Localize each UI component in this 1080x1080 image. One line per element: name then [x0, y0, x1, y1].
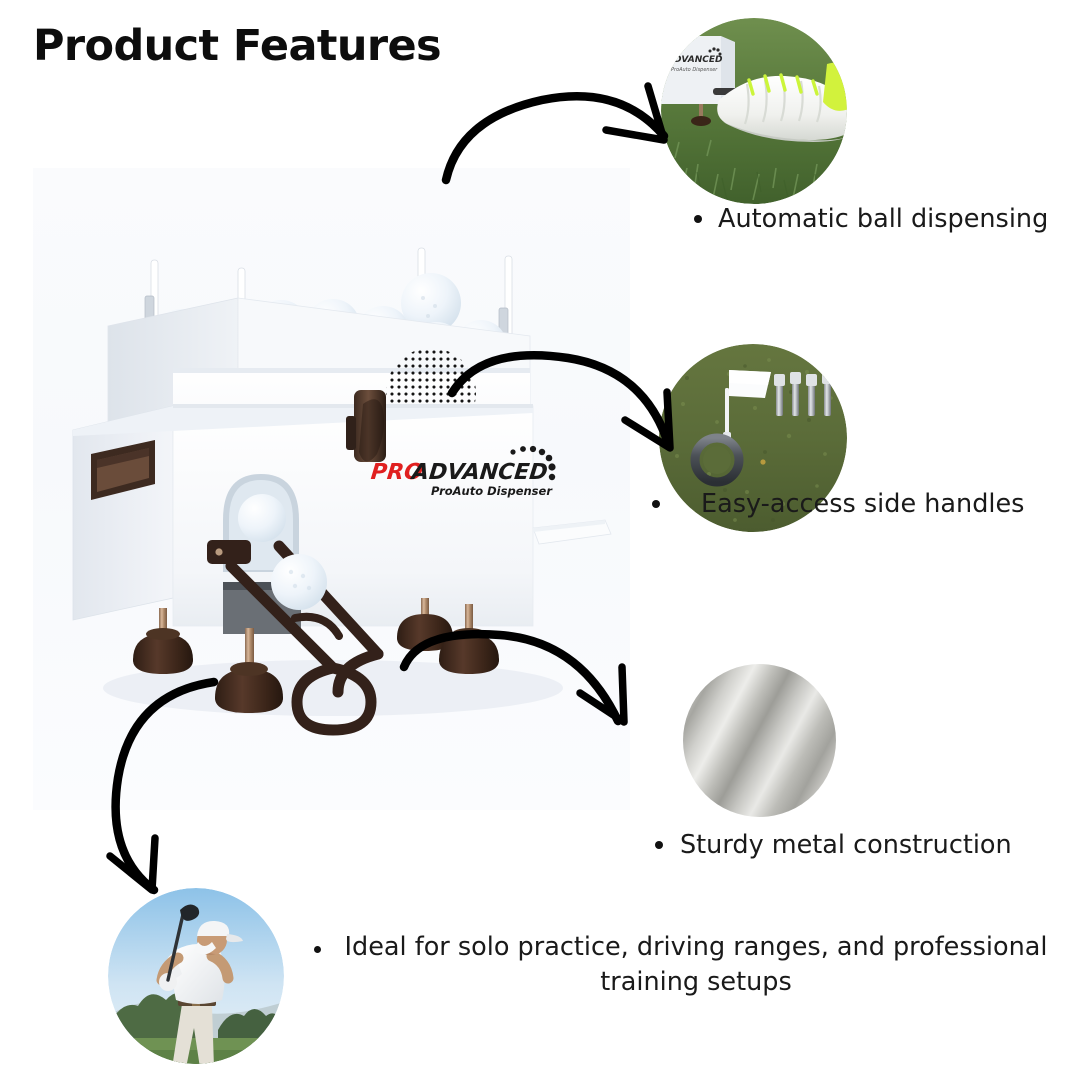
golfer-swing-photo: [108, 888, 284, 1064]
rear-tray: [533, 520, 611, 544]
bullet-dot: [694, 215, 702, 223]
feature-label-ideal-for-practice: Ideal for solo practice, driving ranges,…: [336, 930, 1056, 1000]
feature-image-ideal-for-practice: [108, 888, 284, 1064]
arrow-to-shoe: [446, 86, 664, 180]
bullet-dot: [314, 946, 321, 953]
golf-shoe-pedal-photo: ADVANCED ProAuto Dispenser: [661, 18, 847, 204]
product-photo: PRO ADVANCED ProAuto Dispenser: [33, 168, 630, 810]
feature-label-sturdy-metal-construction: Sturdy metal construction: [680, 829, 1012, 863]
bullet-dot: [655, 841, 663, 849]
feature-label-easy-access-side-handles: Easy-access side handles: [701, 488, 1024, 522]
svg-text:ProAuto Dispenser: ProAuto Dispenser: [431, 484, 553, 498]
feature-image-sturdy-metal-construction: [683, 664, 836, 817]
svg-text:ProAuto Dispenser: ProAuto Dispenser: [671, 67, 718, 73]
svg-text:ADVANCED: ADVANCED: [409, 460, 549, 485]
bullet-dot: [652, 500, 660, 508]
svg-text:ADVANCED: ADVANCED: [666, 55, 723, 65]
feature-label-automatic-ball-dispensing: Automatic ball dispensing: [718, 203, 1048, 237]
feature-image-automatic-ball-dispensing: ADVANCED ProAuto Dispenser: [661, 18, 847, 204]
page-title: Product Features: [33, 22, 441, 71]
pedal-bracket: [207, 540, 251, 564]
dispensed-golf-ball: [271, 554, 327, 610]
product-image-panel: PRO ADVANCED ProAuto Dispenser: [33, 168, 630, 810]
infographic-canvas: Product Features: [0, 0, 1080, 1080]
